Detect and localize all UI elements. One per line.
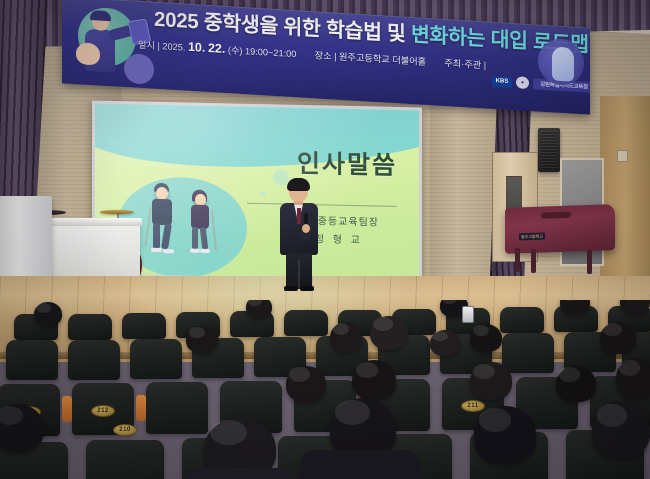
smartphone-recording[interactable] bbox=[462, 306, 474, 323]
seat[interactable] bbox=[500, 307, 544, 333]
audience-head bbox=[616, 358, 650, 398]
figure-pole-2 bbox=[211, 210, 217, 250]
slide-speaker-name: 정 형 교 bbox=[315, 230, 363, 246]
slide-dot-3 bbox=[260, 191, 266, 197]
seat[interactable] bbox=[122, 313, 166, 339]
figure-shoe-1 bbox=[151, 248, 162, 252]
figure-pole-1 bbox=[144, 207, 151, 247]
seat[interactable] bbox=[502, 333, 554, 373]
presenter-trouser-crease bbox=[298, 260, 300, 289]
piano-leg-2 bbox=[531, 249, 536, 273]
auditorium-photo: 2025 중학생을 위한 학습법 및 변화하는 대입 로드맵 설명회 일시 | … bbox=[0, 0, 650, 479]
audience-head bbox=[470, 324, 502, 352]
audience-head-foreground bbox=[592, 402, 650, 458]
circle-logo: ● bbox=[516, 76, 529, 89]
audience-head bbox=[352, 360, 396, 400]
slide-figure-left bbox=[143, 183, 183, 256]
audience-head-foreground bbox=[474, 406, 536, 464]
grand-piano-covered: 원주고등학교 bbox=[505, 204, 615, 254]
seat-armrest bbox=[62, 396, 72, 422]
figure-leg-2 bbox=[200, 227, 209, 250]
audience-head bbox=[246, 300, 272, 318]
banner-date-month: 10. bbox=[188, 40, 205, 55]
wall-mounted-speaker bbox=[538, 128, 560, 172]
piano-cover-badge: 원주고등학교 bbox=[519, 233, 545, 241]
piano-lid-ridge bbox=[541, 212, 571, 219]
audience-shoulders bbox=[186, 468, 296, 479]
banner-weekday: (수) bbox=[228, 45, 243, 56]
slide-title: 인사말씀 bbox=[297, 144, 397, 182]
seat-number-plate: 211 bbox=[461, 400, 485, 412]
audience-seating: 208 212 211 210 bbox=[0, 300, 650, 479]
audience-head bbox=[430, 330, 460, 356]
stage-podium bbox=[0, 196, 52, 282]
audience-head bbox=[286, 366, 326, 402]
banner-date-year: 2025. bbox=[162, 41, 185, 52]
kbs-logo: KBS bbox=[492, 75, 512, 87]
banner-place-label: 장소 | bbox=[315, 50, 337, 61]
piano-legs bbox=[505, 248, 615, 272]
figure-shoe-2 bbox=[163, 249, 174, 253]
figure-leg-2 bbox=[161, 223, 172, 250]
audience-head-foreground bbox=[0, 404, 44, 452]
audience-shoulders bbox=[300, 450, 420, 479]
projection-screen: 인사말씀 중등교육팀장 정 형 교 bbox=[92, 101, 422, 284]
audience-head bbox=[34, 302, 62, 326]
slide-divider bbox=[247, 203, 397, 207]
seat[interactable] bbox=[68, 340, 120, 380]
seat-number-plate: 210 bbox=[113, 424, 137, 436]
audience-head bbox=[600, 322, 636, 354]
audience-head-with-bun bbox=[370, 316, 408, 350]
presenter-shoe-left bbox=[284, 286, 298, 291]
seat[interactable] bbox=[146, 382, 208, 434]
banner-person-hands bbox=[76, 42, 100, 65]
wall-outlet bbox=[617, 150, 628, 162]
seat-number-plate: 212 bbox=[91, 405, 115, 417]
banner-host-label: 주최·주관 | bbox=[444, 58, 486, 70]
audience-head bbox=[330, 322, 362, 352]
seat[interactable] bbox=[284, 310, 328, 336]
cymbal-2 bbox=[100, 210, 134, 214]
figure-leg-1 bbox=[153, 223, 160, 249]
presenter-hand bbox=[302, 224, 310, 233]
figure-shoe-1 bbox=[190, 249, 200, 253]
presenter-tie bbox=[297, 208, 301, 224]
banner-circle-purple bbox=[124, 53, 154, 85]
seat-armrest bbox=[136, 395, 146, 421]
banner-date-day: 22. bbox=[208, 41, 225, 56]
stage-table-top bbox=[46, 218, 142, 226]
slide-speaker-role: 중등교육팀장 bbox=[318, 212, 379, 228]
presenter-hair bbox=[287, 178, 310, 191]
slide-figure-right bbox=[183, 189, 219, 256]
seat[interactable]: 210 bbox=[86, 440, 164, 479]
piano-leg-3 bbox=[587, 250, 592, 274]
figure-torso bbox=[152, 199, 172, 225]
presentation-slide: 인사말씀 중등교육팀장 정 형 교 bbox=[95, 104, 419, 281]
seat[interactable] bbox=[130, 339, 182, 379]
audience-head bbox=[470, 362, 512, 400]
speaker-grill bbox=[541, 131, 557, 169]
audience-head bbox=[556, 366, 596, 402]
presenter bbox=[277, 180, 321, 290]
seat[interactable] bbox=[6, 340, 58, 380]
piano-leg-1 bbox=[515, 248, 520, 272]
figure-leg-1 bbox=[192, 227, 198, 250]
presenter-shoe-right bbox=[300, 286, 314, 291]
banner-mascot bbox=[534, 31, 586, 106]
mascot-figure bbox=[552, 46, 574, 81]
figure-shoe-2 bbox=[200, 249, 210, 253]
audience-head bbox=[186, 326, 218, 353]
banner-time: 19:00~21:00 bbox=[245, 46, 296, 59]
figure-torso bbox=[191, 205, 209, 229]
seat[interactable] bbox=[68, 314, 112, 340]
banner-date-label: 일시 | bbox=[138, 40, 160, 51]
stage-table bbox=[48, 222, 140, 280]
